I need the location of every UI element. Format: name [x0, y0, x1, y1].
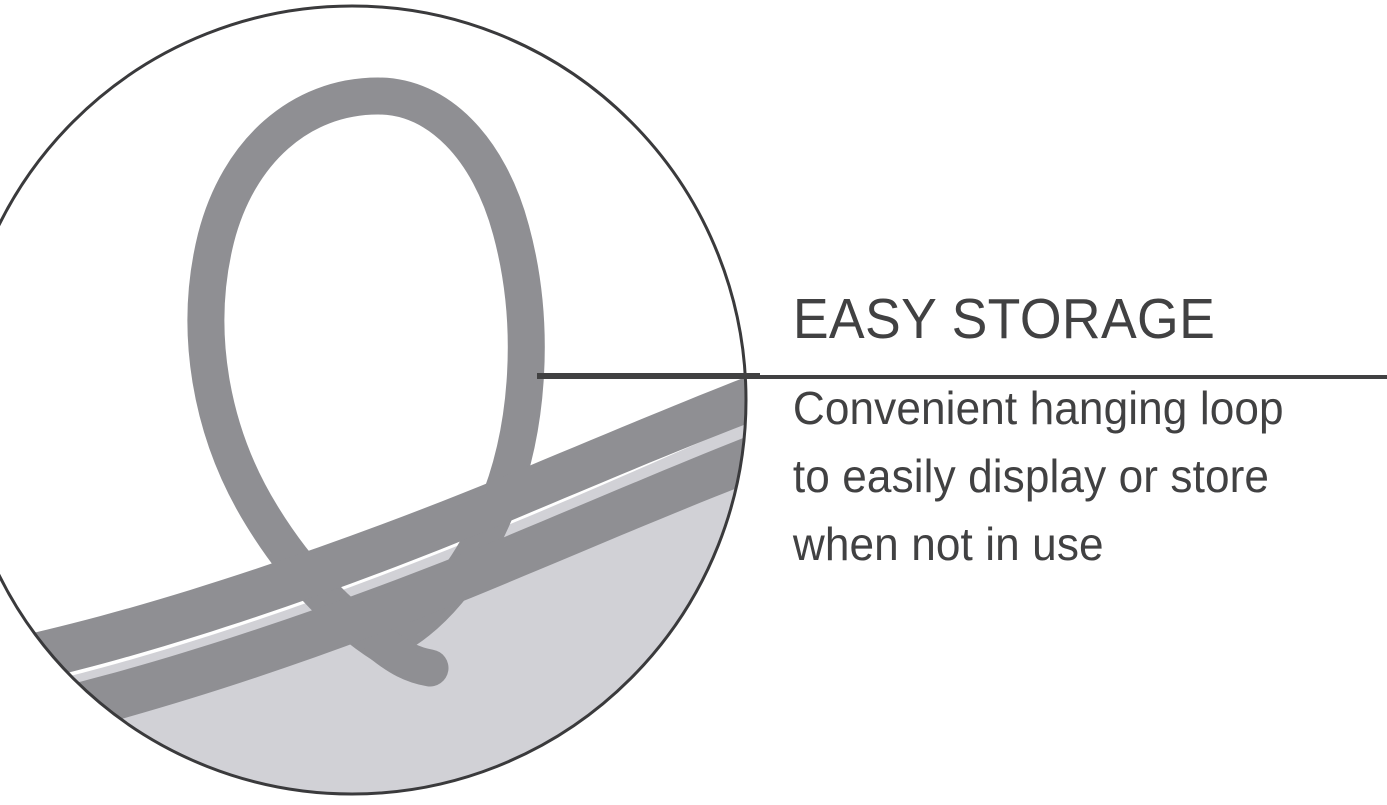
description-line-3: when not in use: [793, 510, 1363, 578]
description-line-2: to easily display or store: [793, 442, 1363, 510]
callout-text-block: EASY STORAGE Convenient hanging loop to …: [790, 288, 1387, 578]
callout-description: Convenient hanging loop to easily displa…: [790, 350, 1363, 578]
loop-tail: [383, 645, 430, 668]
illustration-svg: [0, 0, 760, 805]
page-title: EASY STORAGE: [790, 288, 1351, 350]
illustration-hanging-loop: [0, 0, 760, 805]
feature-callout-page: EASY STORAGE Convenient hanging loop to …: [0, 0, 1387, 805]
description-line-1: Convenient hanging loop: [793, 374, 1363, 442]
